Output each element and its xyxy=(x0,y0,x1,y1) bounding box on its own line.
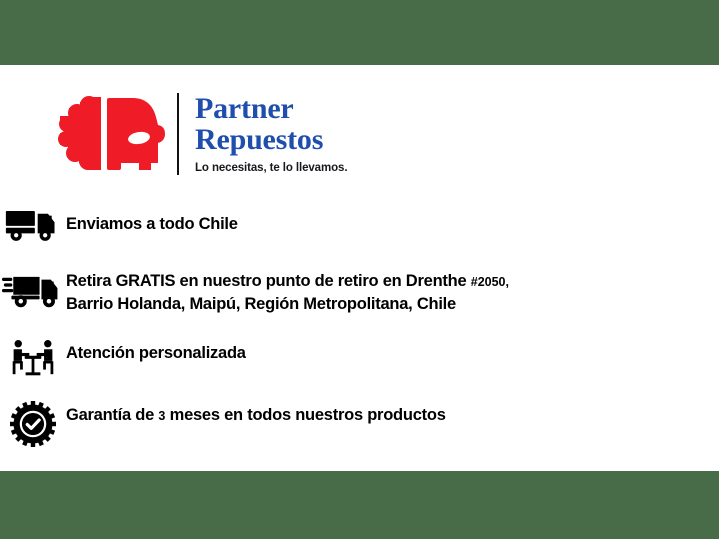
feature-item-warranty: Garantía de 3 meses en todos nuestros pr… xyxy=(0,399,719,449)
bottom-green-band xyxy=(0,471,719,539)
content-area: Partner Repuestos Lo necesitas, te lo ll… xyxy=(0,65,719,471)
pickup-text-line-2: Barrio Holanda, Maipú, Región Metropolit… xyxy=(66,295,456,313)
feature-text-warranty: Garantía de 3 meses en todos nuestros pr… xyxy=(66,399,446,427)
feature-item-pickup: Retira GRATIS en nuestro punto de retiro… xyxy=(0,269,719,323)
feature-list: Enviamos a todo Chile xyxy=(0,208,719,449)
pickup-address-number: #2050, xyxy=(471,275,509,289)
brand-wordmark: Partner Repuestos Lo necesitas, te lo ll… xyxy=(195,93,347,174)
brand-name-line-2: Repuestos xyxy=(195,124,347,155)
pickup-text-line-1: Retira GRATIS en nuestro punto de retiro… xyxy=(66,272,471,290)
feature-item-shipping: Enviamos a todo Chile xyxy=(0,208,719,255)
promo-banner: Partner Repuestos Lo necesitas, te lo ll… xyxy=(0,0,719,539)
feature-text-attention: Atención personalizada xyxy=(66,337,246,364)
brand-logo: Partner Repuestos Lo necesitas, te lo ll… xyxy=(55,91,347,176)
brand-tagline: Lo necesitas, te lo llevamos. xyxy=(195,162,347,174)
top-green-band xyxy=(0,0,719,65)
delivery-truck-icon xyxy=(0,208,66,242)
logo-divider xyxy=(177,93,179,175)
feature-item-attention: Atención personalizada xyxy=(0,337,719,385)
verified-badge-check-icon xyxy=(0,399,66,447)
fast-delivery-truck-icon xyxy=(0,269,66,309)
meeting-table-people-icon xyxy=(0,337,66,378)
brand-name-line-1: Partner xyxy=(195,93,347,124)
feature-text-pickup: Retira GRATIS en nuestro punto de retiro… xyxy=(66,269,509,315)
warranty-text-part-2: meses en todos nuestros productos xyxy=(165,406,445,424)
warranty-text-part-1: Garantía de xyxy=(66,406,158,424)
feature-text-shipping: Enviamos a todo Chile xyxy=(66,208,238,235)
gear-car-logo-icon xyxy=(55,91,167,176)
